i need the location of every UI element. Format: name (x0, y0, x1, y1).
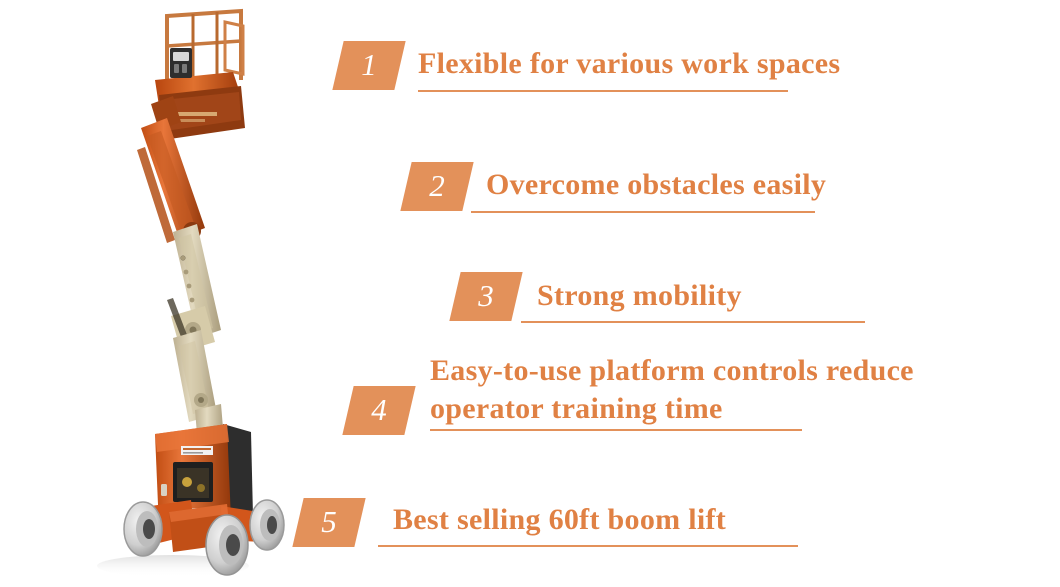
feature-text-1-line-1: Flexible for various work spaces (418, 45, 840, 83)
feature-list: 1 Flexible for various work spaces 2 Ove… (0, 0, 1060, 587)
feature-banner: 1 Flexible for various work spaces 2 Ove… (0, 0, 1060, 587)
feature-text-4: Easy-to-use platform controls reduce ope… (430, 352, 914, 428)
feature-text-2-line-1: Overcome obstacles easily (486, 166, 826, 204)
feature-underline-1 (418, 90, 788, 92)
feature-text-2: Overcome obstacles easily (486, 166, 826, 204)
feature-underline-2 (471, 211, 815, 213)
feature-number-4: 4 (348, 386, 410, 435)
feature-text-3-line-1: Strong mobility (537, 277, 742, 315)
feature-number-3: 3 (455, 272, 517, 321)
feature-text-4-line-2: operator training time (430, 390, 914, 428)
feature-number-2: 2 (406, 162, 468, 211)
feature-number-5: 5 (298, 498, 360, 547)
feature-text-1: Flexible for various work spaces (418, 45, 840, 83)
feature-text-5: Best selling 60ft boom lift (393, 501, 726, 539)
feature-underline-5 (378, 545, 798, 547)
feature-number-1: 1 (338, 41, 400, 90)
feature-text-3: Strong mobility (537, 277, 742, 315)
feature-underline-3 (521, 321, 865, 323)
feature-text-4-line-1: Easy-to-use platform controls reduce (430, 352, 914, 390)
feature-text-5-line-1: Best selling 60ft boom lift (393, 501, 726, 539)
feature-underline-4 (430, 429, 802, 431)
